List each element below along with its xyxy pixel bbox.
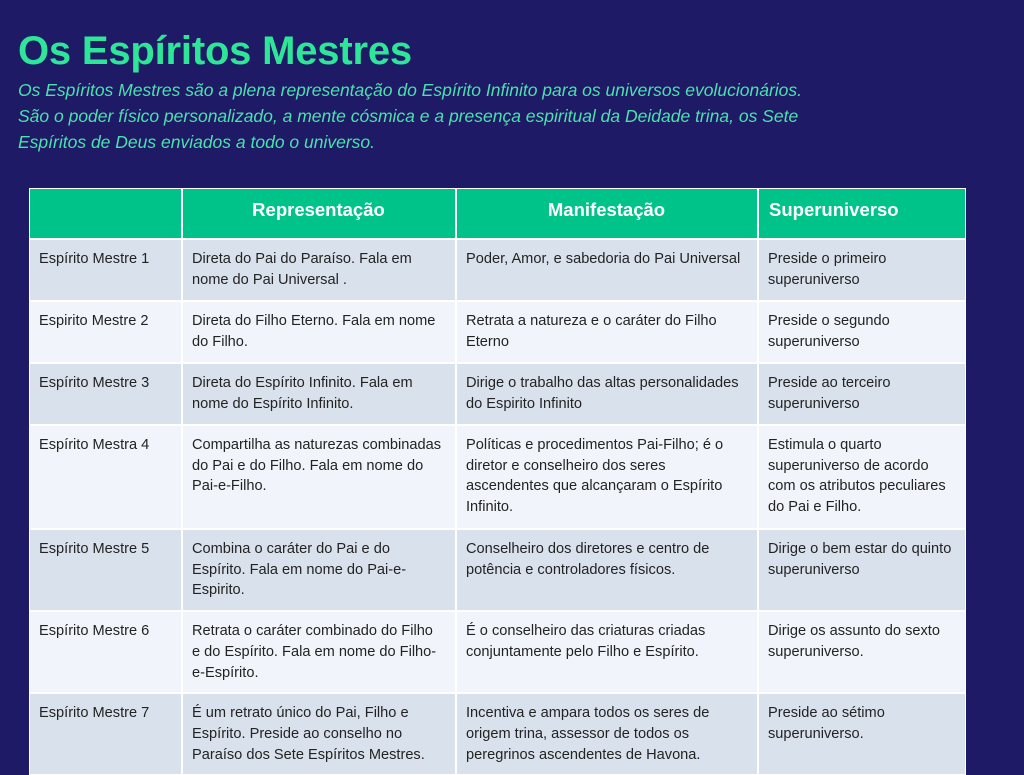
cell-superuniverso: Estimula o quarto superuniverso de acord…: [759, 426, 965, 530]
cell-representacao: Compartilha as naturezas combinadas do P…: [183, 426, 457, 530]
cell-superuniverso: Preside o primeiro superuniverso: [759, 240, 965, 302]
table-row: Espirito Mestre 2 Direta do Filho Eterno…: [30, 302, 965, 364]
cell-spirit: Espírito Mestre 5: [30, 530, 183, 612]
column-header-superuniverso: Superuniverso: [759, 189, 965, 240]
subtitle-line-2: São o poder físico personalizado, a ment…: [18, 104, 978, 130]
cell-superuniverso: Preside o segundo superuniverso: [759, 302, 965, 364]
table-row: Espírito Mestre 1 Direta do Pai do Paraí…: [30, 240, 965, 302]
cell-spirit: Espírito Mestre 6: [30, 612, 183, 694]
table-row: Espírito Mestra 4 Compartilha as naturez…: [30, 426, 965, 530]
subtitle: Os Espíritos Mestres são a plena represe…: [18, 78, 978, 156]
cell-manifestacao: É o conselheiro das criaturas criadas co…: [457, 612, 759, 694]
master-spirits-table: Representação Manifestação Superuniverso…: [29, 188, 966, 775]
table-body: Espírito Mestre 1 Direta do Pai do Paraí…: [30, 240, 965, 774]
cell-spirit: Espírito Mestre 7: [30, 694, 183, 774]
subtitle-line-3: Espíritos de Deus enviados a todo o univ…: [18, 130, 978, 156]
cell-manifestacao: Conselheiro dos diretores e centro de po…: [457, 530, 759, 612]
cell-spirit: Espírito Mestra 4: [30, 426, 183, 530]
cell-superuniverso: Preside ao sétimo superuniverso.: [759, 694, 965, 774]
cell-manifestacao: Dirige o trabalho das altas personalidad…: [457, 364, 759, 426]
master-spirits-table-container: Representação Manifestação Superuniverso…: [29, 188, 964, 775]
page-title: Os Espíritos Mestres: [18, 30, 1000, 72]
cell-manifestacao: Retrata a natureza e o caráter do Filho …: [457, 302, 759, 364]
cell-representacao: Direta do Pai do Paraíso. Fala em nome d…: [183, 240, 457, 302]
table-header: Representação Manifestação Superuniverso: [30, 189, 965, 240]
column-header-representacao: Representação: [183, 189, 457, 240]
cell-superuniverso: Preside ao terceiro superuniverso: [759, 364, 965, 426]
table-row: Espírito Mestre 6 Retrata o caráter comb…: [30, 612, 965, 694]
cell-manifestacao: Políticas e procedimentos Pai-Filho; é o…: [457, 426, 759, 530]
cell-superuniverso: Dirige o bem estar do quinto superuniver…: [759, 530, 965, 612]
cell-representacao: É um retrato único do Pai, Filho e Espír…: [183, 694, 457, 774]
cell-spirit: Espírito Mestre 3: [30, 364, 183, 426]
slide-header: Os Espíritos Mestres Os Espíritos Mestre…: [0, 0, 1024, 156]
column-header-spirit: [30, 189, 183, 240]
cell-representacao: Direta do Filho Eterno. Fala em nome do …: [183, 302, 457, 364]
table-row: Espírito Mestre 7 É um retrato único do …: [30, 694, 965, 774]
cell-manifestacao: Incentiva e ampara todos os seres de ori…: [457, 694, 759, 774]
table-row: Espírito Mestre 5 Combina o caráter do P…: [30, 530, 965, 612]
cell-representacao: Combina o caráter do Pai e do Espírito. …: [183, 530, 457, 612]
table-row: Espírito Mestre 3 Direta do Espírito Inf…: [30, 364, 965, 426]
cell-superuniverso: Dirige os assunto do sexto superuniverso…: [759, 612, 965, 694]
cell-representacao: Retrata o caráter combinado do Filho e d…: [183, 612, 457, 694]
cell-manifestacao: Poder, Amor, e sabedoria do Pai Universa…: [457, 240, 759, 302]
cell-spirit: Espirito Mestre 2: [30, 302, 183, 364]
subtitle-line-1: Os Espíritos Mestres são a plena represe…: [18, 78, 978, 104]
cell-spirit: Espírito Mestre 1: [30, 240, 183, 302]
cell-representacao: Direta do Espírito Infinito. Fala em nom…: [183, 364, 457, 426]
column-header-manifestacao: Manifestação: [457, 189, 759, 240]
table-header-row: Representação Manifestação Superuniverso: [30, 189, 965, 240]
